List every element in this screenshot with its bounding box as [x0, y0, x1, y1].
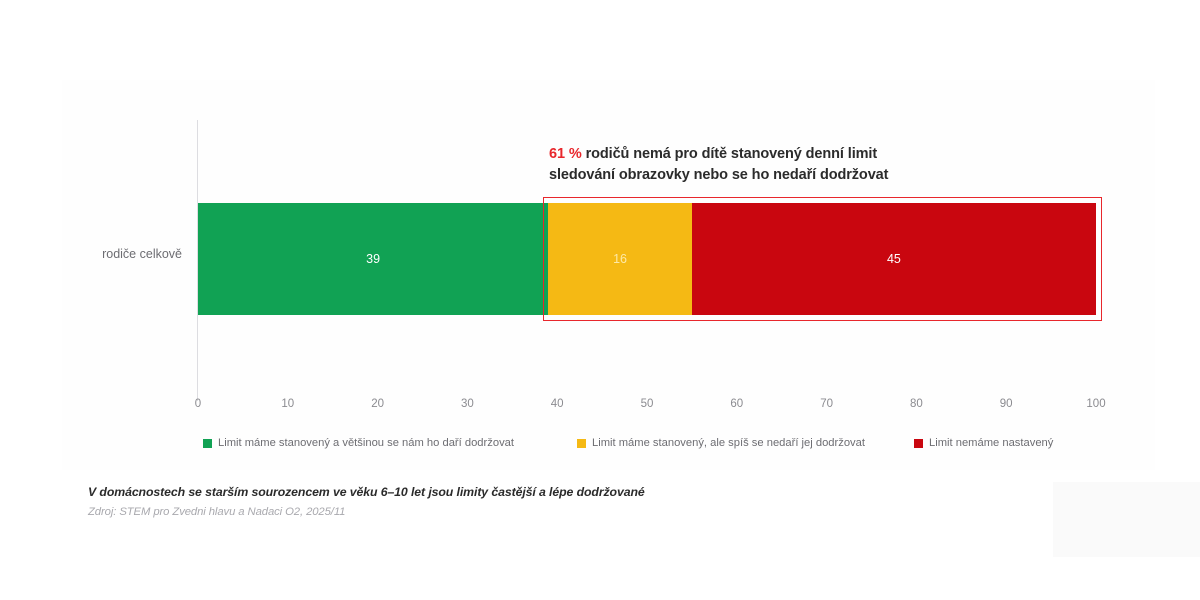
bar-segment-value: 45 [887, 252, 901, 266]
annotation-highlight-value: 61 % [549, 146, 582, 162]
x-tick: 70 [820, 398, 833, 410]
x-tick: 30 [461, 398, 474, 410]
x-tick: 90 [1000, 398, 1013, 410]
legend-item-limit-nedari[interactable]: Limit máme stanovený, ale spíš se nedaří… [577, 437, 865, 449]
x-tick: 20 [371, 398, 384, 410]
chart-legend: Limit máme stanovený a většinou se nám h… [203, 437, 1073, 449]
chart-footer: V domácnostech se starším sourozencem ve… [88, 485, 645, 518]
legend-swatch-icon [203, 439, 212, 448]
chart-annotation: 61 % rodičů nemá pro dítě stanovený denn… [549, 144, 979, 186]
x-tick: 60 [730, 398, 743, 410]
legend-label: Limit nemáme nastavený [929, 437, 1053, 449]
logo-placeholder [1053, 482, 1200, 557]
footer-note: V domácnostech se starším sourozencem ve… [88, 485, 645, 499]
x-tick: 10 [281, 398, 294, 410]
legend-item-limit-dodrzovat[interactable]: Limit máme stanovený a většinou se nám h… [203, 437, 514, 449]
x-tick: 40 [551, 398, 564, 410]
legend-swatch-icon [577, 439, 586, 448]
bar-segment-value: 16 [613, 252, 627, 266]
stacked-bar-rodice-celkove: 39 16 45 [198, 203, 1096, 315]
bar-segment-limit-nedari[interactable]: 16 [548, 203, 692, 315]
annotation-line2: sledování obrazovky nebo se ho nedaří do… [549, 167, 888, 183]
x-tick: 80 [910, 398, 923, 410]
annotation-line1-rest: rodičů nemá pro dítě stanovený denní lim… [582, 146, 877, 162]
bar-segment-value: 39 [366, 252, 380, 266]
legend-item-limit-nemame[interactable]: Limit nemáme nastavený [914, 437, 1053, 449]
legend-label: Limit máme stanovený a většinou se nám h… [218, 437, 514, 449]
x-axis-ticks: 0 10 20 30 40 50 60 70 80 90 100 [198, 398, 1096, 418]
bar-segment-limit-nemame[interactable]: 45 [692, 203, 1096, 315]
bar-segment-limit-dodrzovat[interactable]: 39 [198, 203, 548, 315]
x-tick: 50 [641, 398, 654, 410]
x-tick: 0 [195, 398, 201, 410]
footer-source: Zdroj: STEM pro Zvedni hlavu a Nadaci O2… [88, 506, 645, 518]
legend-label: Limit máme stanovený, ale spíš se nedaří… [592, 437, 865, 449]
category-label-rodice-celkove: rodiče celkově [0, 247, 182, 261]
legend-swatch-icon [914, 439, 923, 448]
x-tick: 100 [1086, 398, 1105, 410]
